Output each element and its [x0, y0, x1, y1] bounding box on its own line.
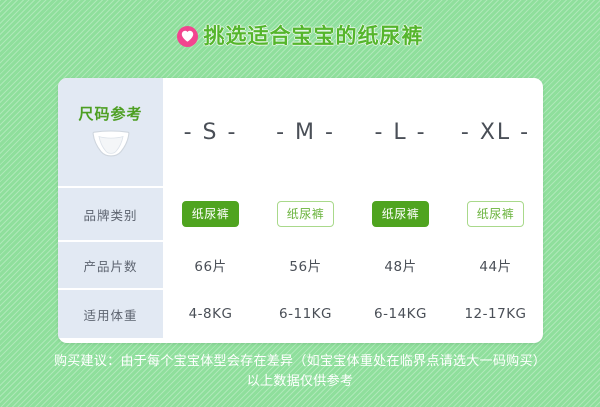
data-columns: - S - - M - - L - - XL - 纸尿裤 纸尿裤 [163, 78, 543, 343]
table-cell: 6-14KG [353, 306, 448, 322]
heart-icon [177, 26, 198, 47]
size-label: - L - [374, 120, 426, 145]
size-header-row: - S - - M - - L - - XL - [163, 78, 543, 186]
suitable-weight-row: 4-8KG 6-11KG 6-14KG 12-17KG [163, 290, 543, 338]
table-cell: 纸尿裤 [258, 201, 353, 227]
cell-value: 44片 [479, 255, 511, 275]
cell-value: 6-11KG [279, 306, 332, 322]
table-cell: 纸尿裤 [448, 201, 543, 227]
size-reference-label: 尺码参考 [78, 103, 142, 124]
table-cell: 56片 [258, 255, 353, 275]
cell-value: 56片 [289, 255, 321, 275]
diaper-icon [91, 130, 131, 161]
row-label-suitable-weight: 适用体重 [58, 290, 163, 338]
cell-value: 48片 [384, 255, 416, 275]
table-cell: 纸尿裤 [163, 201, 258, 227]
page-background: 挑选适合宝宝的纸尿裤 尺码参考 品牌类别 产品片数 适用体重 [0, 0, 600, 407]
size-label: - M - [276, 120, 335, 145]
table-cell: 4-8KG [163, 306, 258, 322]
status-badge[interactable]: 纸尿裤 [277, 201, 335, 227]
status-badge[interactable]: 纸尿裤 [182, 201, 240, 227]
size-chart-card: 尺码参考 品牌类别 产品片数 适用体重 [58, 78, 543, 343]
size-column-l: - L - [353, 120, 448, 145]
cell-value: 6-14KG [374, 306, 427, 322]
row-label-text: 产品片数 [83, 256, 137, 275]
size-reference-header: 尺码参考 [58, 78, 163, 186]
table-cell: 纸尿裤 [353, 201, 448, 227]
cell-value: 4-8KG [189, 306, 233, 322]
table-cell: 6-11KG [258, 306, 353, 322]
table-cell: 48片 [353, 255, 448, 275]
page-title: 挑选适合宝宝的纸尿裤 [0, 17, 600, 53]
status-badge[interactable]: 纸尿裤 [372, 201, 430, 227]
status-badge[interactable]: 纸尿裤 [467, 201, 525, 227]
row-label-piece-count: 产品片数 [58, 242, 163, 288]
cell-value: 12-17KG [464, 306, 526, 322]
footer-note: 购买建议：由于每个宝宝体型会存在差异（如宝宝体重处在临界点请选大一码购买） 以上… [0, 352, 600, 392]
cell-value: 66片 [194, 255, 226, 275]
size-column-m: - M - [258, 120, 353, 145]
size-label: - S - [184, 120, 238, 145]
footer-line-1: 购买建议：由于每个宝宝体型会存在差异（如宝宝体重处在临界点请选大一码购买） [0, 352, 600, 372]
row-label-text: 品牌类别 [83, 205, 137, 224]
size-column-s: - S - [163, 120, 258, 145]
label-column: 尺码参考 品牌类别 产品片数 适用体重 [58, 78, 163, 343]
size-column-xl: - XL - [448, 120, 543, 145]
row-label-brand-category: 品牌类别 [58, 188, 163, 240]
piece-count-row: 66片 56片 48片 44片 [163, 242, 543, 288]
brand-category-row: 纸尿裤 纸尿裤 纸尿裤 纸尿裤 [163, 188, 543, 240]
table-cell: 44片 [448, 255, 543, 275]
table-cell: 66片 [163, 255, 258, 275]
footer-line-2: 以上数据仅供参考 [0, 372, 600, 392]
page-title-text: 挑选适合宝宝的纸尿裤 [204, 20, 424, 50]
table-cell: 12-17KG [448, 306, 543, 322]
size-label: - XL - [461, 120, 530, 145]
row-label-text: 适用体重 [83, 305, 137, 324]
